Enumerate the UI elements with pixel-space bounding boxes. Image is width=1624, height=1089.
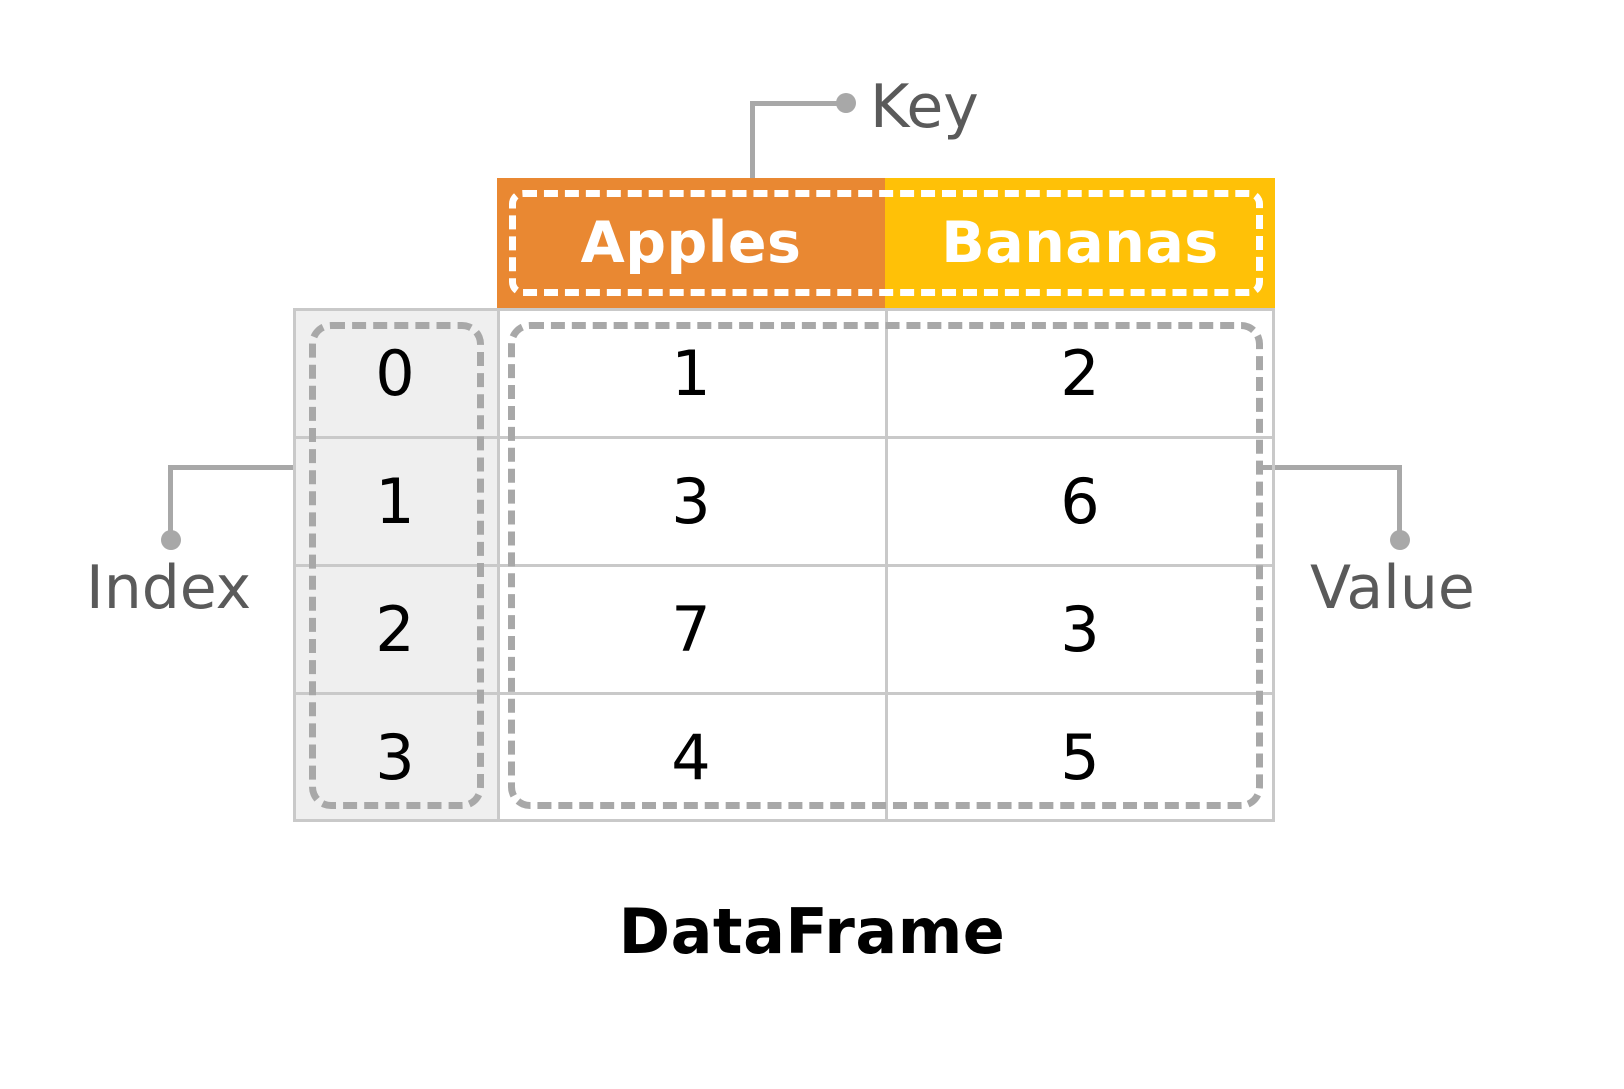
index-leader-dot (161, 530, 181, 550)
data-cell-r1c1[interactable]: 6 (885, 439, 1275, 564)
index-cell-0: 0 (293, 311, 497, 436)
value-leader-dot (1390, 530, 1410, 550)
key-label: Key (870, 72, 979, 142)
index-label: Index (86, 553, 251, 623)
value-label: Value (1310, 553, 1475, 623)
diagram-canvas: Key Index Value Apples Bananas 0 1 2 1 3… (0, 0, 1624, 1089)
index-cell-3: 3 (293, 695, 497, 820)
index-leader-vertical (168, 465, 173, 540)
index-leader-horizontal (168, 465, 313, 470)
data-cell-r1c0[interactable]: 3 (497, 439, 885, 564)
column-header-apples[interactable]: Apples (497, 178, 885, 308)
header-corner-cell (293, 178, 497, 308)
data-cell-r3c1[interactable]: 5 (885, 695, 1275, 820)
column-header-bananas[interactable]: Bananas (885, 178, 1275, 308)
key-leader-horizontal (750, 101, 846, 106)
data-cell-r0c1[interactable]: 2 (885, 311, 1275, 436)
diagram-caption: DataFrame (0, 895, 1624, 968)
key-leader-dot (836, 93, 856, 113)
value-leader-vertical (1397, 465, 1402, 540)
index-cell-2: 2 (293, 567, 497, 692)
data-cell-r2c0[interactable]: 7 (497, 567, 885, 692)
data-cell-r0c0[interactable]: 1 (497, 311, 885, 436)
data-cell-r2c1[interactable]: 3 (885, 567, 1275, 692)
index-cell-1: 1 (293, 439, 497, 564)
value-leader-horizontal (1257, 465, 1402, 470)
data-cell-r3c0[interactable]: 4 (497, 695, 885, 820)
